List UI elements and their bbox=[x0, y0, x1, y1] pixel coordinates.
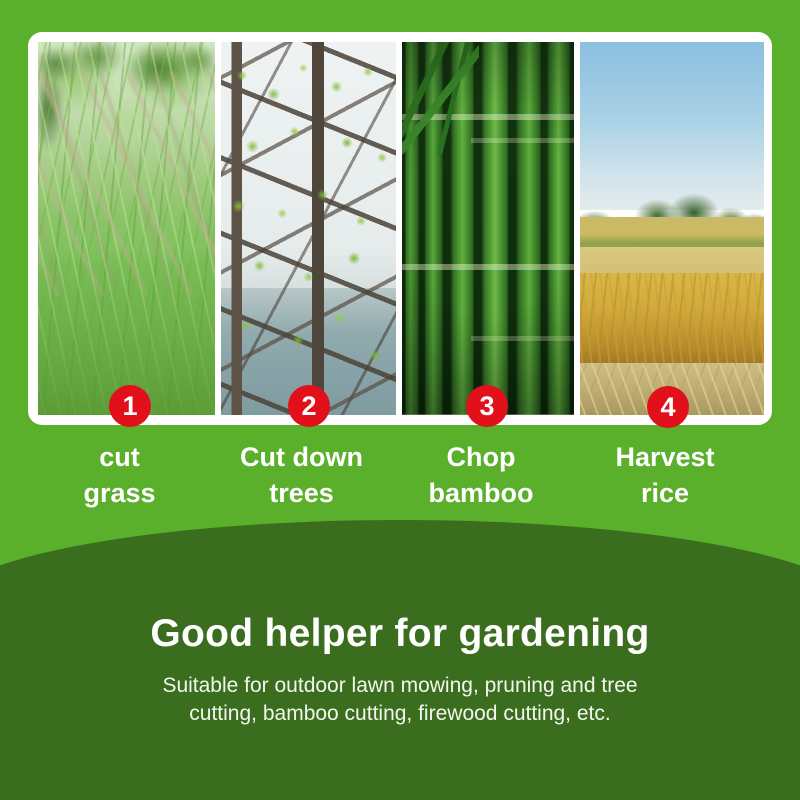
step-badge-4: 4 bbox=[647, 386, 689, 428]
photo-panel-harvest-rice bbox=[580, 42, 764, 415]
caption-cut-grass-line2: grass bbox=[28, 476, 211, 512]
step-badge-3: 3 bbox=[466, 385, 508, 427]
caption-harvest-rice-line2: rice bbox=[570, 476, 760, 512]
photo-card bbox=[28, 32, 772, 425]
caption-cut-grass: cut grass bbox=[28, 440, 211, 511]
caption-chop-bamboo-line1: Chop bbox=[392, 440, 570, 476]
banner-subtitle-line2: cutting, bamboo cutting, firewood cuttin… bbox=[189, 702, 610, 725]
photo-panel-cut-grass bbox=[38, 42, 215, 415]
banner-title: Good helper for gardening bbox=[0, 612, 800, 656]
caption-row: cut grass Cut down trees Chop bamboo Har… bbox=[28, 440, 772, 511]
rice-sky-layer bbox=[580, 42, 764, 210]
caption-cut-down-trees-line2: trees bbox=[211, 476, 392, 512]
step-badge-1: 1 bbox=[109, 385, 151, 427]
bottom-banner: Good helper for gardening Suitable for o… bbox=[0, 612, 800, 728]
caption-cut-down-trees-line1: Cut down bbox=[211, 440, 392, 476]
caption-cut-grass-line1: cut bbox=[28, 440, 211, 476]
tree-leaves-layer bbox=[221, 42, 396, 415]
caption-harvest-rice-line1: Harvest bbox=[570, 440, 760, 476]
banner-subtitle: Suitable for outdoor lawn mowing, prunin… bbox=[80, 672, 720, 728]
photo-panel-chop-bamboo bbox=[402, 42, 574, 415]
caption-chop-bamboo: Chop bamboo bbox=[392, 440, 570, 511]
bamboo-vignette-layer bbox=[402, 42, 574, 415]
caption-chop-bamboo-line2: bamboo bbox=[392, 476, 570, 512]
promo-poster: 1 2 3 4 cut grass Cut down trees Chop ba… bbox=[0, 0, 800, 800]
photo-panel-cut-down-trees bbox=[221, 42, 396, 415]
banner-subtitle-line1: Suitable for outdoor lawn mowing, prunin… bbox=[162, 674, 637, 697]
caption-harvest-rice: Harvest rice bbox=[570, 440, 760, 511]
caption-cut-down-trees: Cut down trees bbox=[211, 440, 392, 511]
step-badge-2: 2 bbox=[288, 385, 330, 427]
grass-shadow-layer bbox=[38, 42, 215, 415]
